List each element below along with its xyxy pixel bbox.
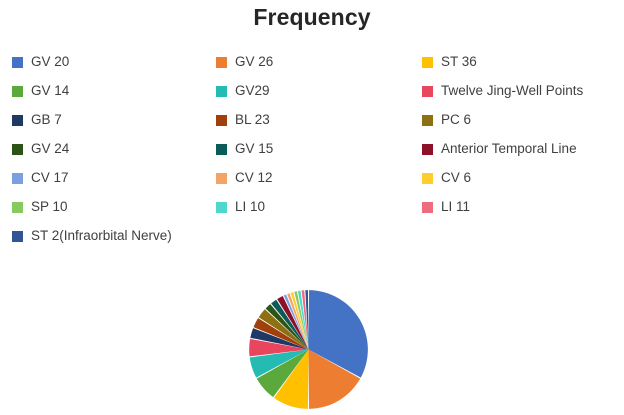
legend-item[interactable]: ST 2(Infraorbital Nerve) <box>12 226 172 246</box>
legend-color-swatch-icon <box>422 173 433 184</box>
legend-color-swatch-icon <box>12 202 23 213</box>
legend-item[interactable]: ST 36 <box>422 52 477 72</box>
legend-item[interactable]: LI 11 <box>422 197 470 217</box>
legend-color-swatch-icon <box>12 173 23 184</box>
legend-item[interactable]: GB 7 <box>12 110 62 130</box>
legend-item-label: GV 24 <box>31 141 69 157</box>
legend-item-label: CV 17 <box>31 170 69 186</box>
legend-item-label: GV29 <box>235 83 270 99</box>
legend-item[interactable]: BL 23 <box>216 110 270 130</box>
legend-item-label: GB 7 <box>31 112 62 128</box>
legend-item-label: LI 10 <box>235 199 265 215</box>
legend-color-swatch-icon <box>216 115 227 126</box>
legend-color-swatch-icon <box>216 57 227 68</box>
legend-color-swatch-icon <box>12 115 23 126</box>
legend-item[interactable]: GV 24 <box>12 139 69 159</box>
legend-item[interactable]: Twelve Jing-Well Points <box>422 81 583 101</box>
legend-item-label: GV 20 <box>31 54 69 70</box>
legend-color-swatch-icon <box>422 144 433 155</box>
chart-title: Frequency <box>0 3 624 31</box>
legend-color-swatch-icon <box>12 57 23 68</box>
legend-item[interactable]: SP 10 <box>12 197 68 217</box>
legend-item[interactable]: CV 6 <box>422 168 471 188</box>
legend-item[interactable]: Anterior Temporal Line <box>422 139 577 159</box>
legend-color-swatch-icon <box>12 86 23 97</box>
legend-color-swatch-icon <box>216 86 227 97</box>
legend-color-swatch-icon <box>422 57 433 68</box>
legend-item[interactable]: CV 12 <box>216 168 273 188</box>
legend-item[interactable]: GV29 <box>216 81 270 101</box>
legend-item-label: CV 12 <box>235 170 273 186</box>
legend-item-label: ST 36 <box>441 54 477 70</box>
legend-color-swatch-icon <box>422 115 433 126</box>
legend-item[interactable]: GV 15 <box>216 139 273 159</box>
pie-plot-area <box>243 284 374 415</box>
legend-item-label: GV 15 <box>235 141 273 157</box>
legend-item[interactable]: GV 20 <box>12 52 69 72</box>
legend-item[interactable]: LI 10 <box>216 197 265 217</box>
pie-chart-figure: Frequency GV 20GV 26ST 36GV 14GV29Twelve… <box>0 0 624 415</box>
legend-color-swatch-icon <box>422 86 433 97</box>
legend-color-swatch-icon <box>216 202 227 213</box>
legend-color-swatch-icon <box>216 173 227 184</box>
legend-item-label: BL 23 <box>235 112 270 128</box>
legend-item-label: Twelve Jing-Well Points <box>441 83 583 99</box>
pie-svg <box>243 284 374 415</box>
legend-item-label: ST 2(Infraorbital Nerve) <box>31 228 172 244</box>
legend-color-swatch-icon <box>216 144 227 155</box>
legend-color-swatch-icon <box>422 202 433 213</box>
chart-legend: GV 20GV 26ST 36GV 14GV29Twelve Jing-Well… <box>0 52 624 260</box>
legend-item[interactable]: GV 26 <box>216 52 273 72</box>
legend-item-label: CV 6 <box>441 170 471 186</box>
legend-item-label: GV 14 <box>31 83 69 99</box>
legend-item-label: LI 11 <box>441 199 470 215</box>
legend-color-swatch-icon <box>12 231 23 242</box>
legend-item-label: PC 6 <box>441 112 471 128</box>
legend-item-label: SP 10 <box>31 199 68 215</box>
legend-item-label: Anterior Temporal Line <box>441 141 577 157</box>
legend-color-swatch-icon <box>12 144 23 155</box>
legend-item-label: GV 26 <box>235 54 273 70</box>
legend-item[interactable]: CV 17 <box>12 168 69 188</box>
legend-item[interactable]: PC 6 <box>422 110 471 130</box>
legend-item[interactable]: GV 14 <box>12 81 69 101</box>
